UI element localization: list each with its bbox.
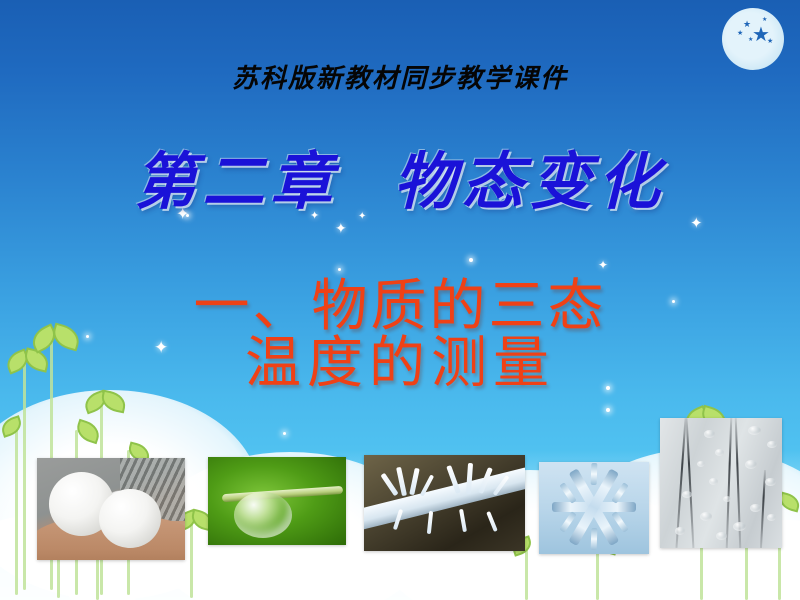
lesson-title-line-2: 温度的测量 — [0, 335, 800, 392]
lesson-title: 一、物质的三态 温度的测量 — [0, 278, 800, 392]
star-icon: ★ — [748, 37, 753, 43]
presentation-slide: ✦ ✦ ✦ ✦ ✦ ✦ ✦ ✦ ★ ★ ★ ★ ★ ★ — [0, 0, 800, 600]
photo-frost-crystals-on-twig — [364, 455, 525, 551]
star-icon: ★ — [762, 17, 767, 23]
photo-snowflake-crystal — [539, 462, 649, 554]
chapter-title: 第二章 物态变化 — [0, 131, 800, 221]
photo-hailstones-in-hand — [37, 458, 185, 560]
sparkle-icon: ✦ — [335, 222, 347, 236]
twinkle-dot — [338, 268, 341, 271]
star-icon: ★ — [737, 30, 743, 37]
photo-rain-droplets-on-glass — [660, 418, 782, 548]
photo-dew-drop-on-stem — [208, 457, 346, 545]
lesson-title-line-1: 一、物质的三态 — [0, 278, 800, 335]
course-subtitle: 苏科版新教材同步教学课件 — [0, 58, 800, 95]
twinkle-dot — [606, 408, 610, 412]
star-icon: ★ — [743, 21, 751, 30]
twinkle-dot — [469, 258, 473, 262]
star-icon: ★ — [767, 38, 773, 45]
sparkle-icon: ✦ — [598, 259, 608, 271]
twinkle-dot — [283, 432, 286, 435]
